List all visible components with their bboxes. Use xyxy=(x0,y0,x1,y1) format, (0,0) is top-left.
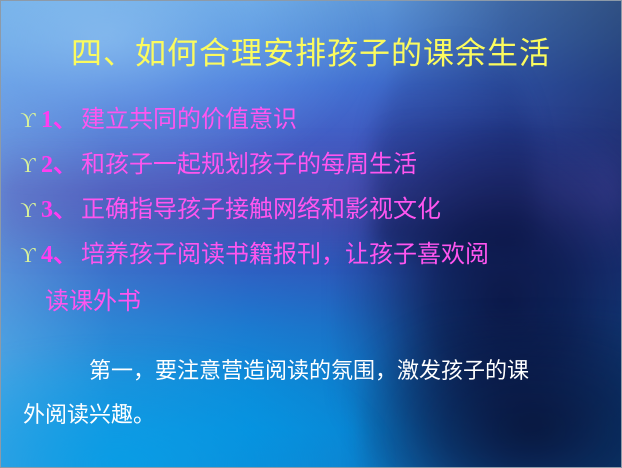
list-item-number: 3、 xyxy=(41,189,77,224)
body-paragraph-line: 外阅读兴趣。 xyxy=(23,393,613,437)
slide-title: 四、如何合理安排孩子的课余生活 xyxy=(1,35,621,73)
list-item-continuation: 读课外书 xyxy=(15,279,615,325)
list-item-label: 和孩子一起规划孩子的每周生活 xyxy=(81,144,417,179)
upsilon-bullet-icon: ϒ xyxy=(15,245,41,266)
slide-content: 四、如何合理安排孩子的课余生活 ϒ 1、 建立共同的价值意识 ϒ 2、 和孩子一… xyxy=(1,1,621,467)
list-item-label: 建立共同的价值意识 xyxy=(81,99,297,134)
bullet-list: ϒ 1、 建立共同的价值意识 ϒ 2、 和孩子一起规划孩子的每周生活 ϒ 3、 … xyxy=(15,99,615,325)
upsilon-bullet-icon: ϒ xyxy=(15,110,41,131)
list-item-number: 4、 xyxy=(41,234,77,269)
list-item-number: 2、 xyxy=(41,144,77,179)
list-item-number: 1、 xyxy=(41,99,77,134)
body-paragraph-line: 第一，要注意营造阅读的氛围，激发孩子的课 xyxy=(23,349,613,393)
body-paragraph: 第一，要注意营造阅读的氛围，激发孩子的课 外阅读兴趣。 xyxy=(23,349,613,437)
list-item: ϒ 4、 培养孩子阅读书籍报刊，让孩子喜欢阅 xyxy=(15,234,615,279)
list-item-label: 正确指导孩子接触网络和影视文化 xyxy=(81,189,441,224)
list-item: ϒ 2、 和孩子一起规划孩子的每周生活 xyxy=(15,144,615,189)
list-item: ϒ 3、 正确指导孩子接触网络和影视文化 xyxy=(15,189,615,234)
upsilon-bullet-icon: ϒ xyxy=(15,200,41,221)
list-item-label: 培养孩子阅读书籍报刊，让孩子喜欢阅 xyxy=(81,234,489,269)
list-item: ϒ 1、 建立共同的价值意识 xyxy=(15,99,615,144)
upsilon-bullet-icon: ϒ xyxy=(15,155,41,176)
presentation-slide: 四、如何合理安排孩子的课余生活 ϒ 1、 建立共同的价值意识 ϒ 2、 和孩子一… xyxy=(0,0,622,468)
